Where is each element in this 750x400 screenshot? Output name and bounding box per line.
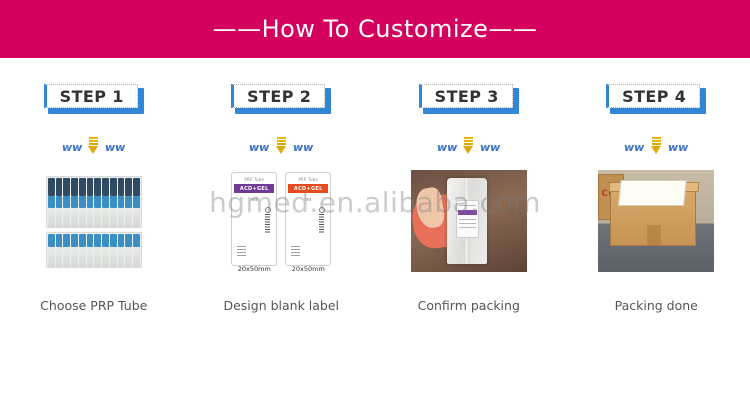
badge-box: STEP 2 [231, 84, 325, 108]
step-badge-label: STEP 2 [247, 87, 311, 106]
label-volume-text: ml [305, 198, 311, 203]
label-corner-mark-icon [291, 246, 300, 257]
packing-scene-graphic [411, 170, 527, 272]
tube-stack-graphic [46, 176, 142, 268]
steps-container: STEP 1 ww ww [0, 58, 750, 313]
label-card-purple: PRP Tube ACD+GEL ml [231, 172, 277, 266]
step-badge-1: STEP 1 [44, 84, 144, 114]
swash-left-icon: ww [61, 142, 83, 153]
label-size-caption: 20x50mm [231, 265, 277, 272]
tube-in-pouch-graphic [456, 200, 479, 238]
step-badge-4: STEP 4 [606, 84, 706, 114]
blank-label-design-photo: PRP Tube ACD+GEL ml 20x50mm PRP Tube [223, 170, 339, 272]
foil-pouch-graphic [447, 178, 487, 264]
barcode-icon [318, 207, 325, 237]
label-volume-text: ml [251, 198, 257, 203]
carton-lid-graphic [609, 182, 700, 192]
shipping-box-scene-graphic: CW [598, 170, 714, 272]
header-banner: ——How To Customize—— [0, 0, 750, 58]
barcode-icon [264, 207, 271, 237]
label-top-text: PRP Tube [298, 177, 318, 182]
step-ornament-2: ww ww [249, 136, 313, 158]
tube-tray-bottom [46, 232, 142, 268]
step-caption-1: Choose PRP Tube [40, 298, 147, 313]
step-column-3: STEP 3 ww ww [375, 84, 563, 313]
swash-right-icon: ww [104, 142, 126, 153]
step-column-1: STEP 1 ww ww [0, 84, 188, 313]
swash-left-icon: ww [436, 142, 458, 153]
step-column-4: STEP 4 ww ww CW [563, 84, 750, 313]
swash-right-icon: ww [292, 142, 314, 153]
step-caption-2: Design blank label [223, 298, 339, 313]
label-band: ACD+GEL [234, 184, 274, 193]
label-size-caption: 20x50mm [285, 265, 331, 272]
swash-left-icon: ww [249, 142, 271, 153]
step-column-2: STEP 2 ww ww PRP Tube ACD+GEL ml [188, 84, 376, 313]
step-ornament-1: ww ww [62, 136, 126, 158]
step-badge-label: STEP 3 [435, 87, 499, 106]
shipping-label-graphic [618, 180, 687, 206]
badge-box: STEP 3 [419, 84, 513, 108]
down-arrow-icon [87, 137, 100, 157]
step-ornament-3: ww ww [437, 136, 501, 158]
step-ornament-4: ww ww [624, 136, 688, 158]
step-badge-3: STEP 3 [419, 84, 519, 114]
down-arrow-icon [650, 137, 663, 157]
label-corner-mark-icon [237, 246, 246, 257]
down-arrow-icon [462, 137, 475, 157]
prp-tube-stack-photo [36, 170, 152, 272]
confirm-packing-photo [411, 170, 527, 272]
swash-left-icon: ww [624, 142, 646, 153]
label-band: ACD+GEL [288, 184, 328, 193]
step-caption-4: Packing done [615, 298, 698, 313]
carton-tape-graphic [647, 225, 661, 245]
packing-done-photo: CW [598, 170, 714, 272]
label-card-orange: PRP Tube ACD+GEL ml [285, 172, 331, 266]
step-caption-3: Confirm packing [418, 298, 520, 313]
step-badge-2: STEP 2 [231, 84, 331, 114]
badge-box: STEP 1 [44, 84, 138, 108]
carton-graphic [610, 188, 696, 246]
label-top-text: PRP Tube [244, 177, 264, 182]
badge-box: STEP 4 [606, 84, 700, 108]
label-item: PRP Tube ACD+GEL ml 20x50mm [285, 172, 331, 272]
swash-right-icon: ww [479, 142, 501, 153]
down-arrow-icon [275, 137, 288, 157]
label-item: PRP Tube ACD+GEL ml 20x50mm [231, 172, 277, 272]
tube-tray-top [46, 176, 142, 228]
page-title: ——How To Customize—— [213, 15, 538, 43]
label-pair: PRP Tube ACD+GEL ml 20x50mm PRP Tube [223, 170, 339, 272]
swash-right-icon: ww [667, 142, 689, 153]
step-badge-label: STEP 1 [60, 87, 124, 106]
step-badge-label: STEP 4 [622, 87, 686, 106]
